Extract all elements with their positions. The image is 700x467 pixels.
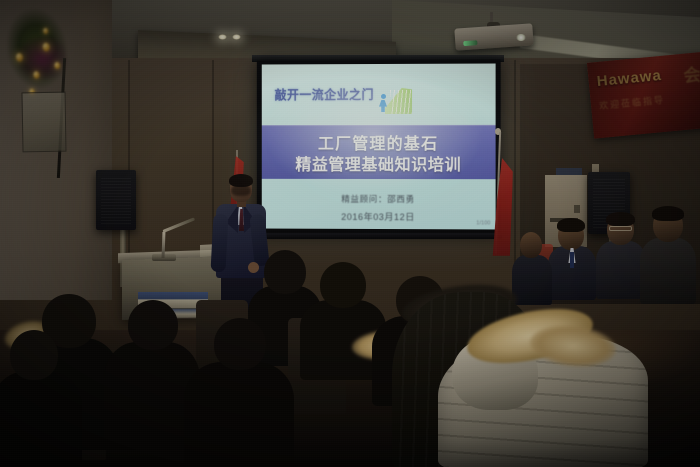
attendee-tie <box>570 252 574 268</box>
slide-title-line2: 精益管理基础知识培训 <box>262 151 496 175</box>
slide-presenter-line: 精益顾问：邵西勇 <box>262 193 496 206</box>
attendee-body <box>0 372 82 467</box>
projector-lens-icon <box>516 34 526 41</box>
red-wall-banner: Hawawa 欢迎莅临指导 会 <box>587 52 700 139</box>
attendee-body <box>596 241 646 299</box>
slide-logo-text: 敲开一流企业之门 <box>275 86 374 104</box>
banner-shading <box>587 52 700 139</box>
presentation-slide: 敲开一流企业之门 工厂管理的基石 精益管理基础知识培训 精益顾问：邵西勇 201… <box>262 64 496 230</box>
attendee-seated-suit <box>512 232 552 302</box>
conference-room-photo: 敲开一流企业之门 工厂管理的基石 精益管理基础知识培训 精益顾问：邵西勇 201… <box>0 0 700 467</box>
screen-bottom-bar <box>254 233 502 239</box>
pa-speaker-left <box>96 170 136 230</box>
slide-logo-mark-icon <box>379 88 412 114</box>
slide-header: 敲开一流企业之门 <box>262 64 496 126</box>
attendee-body <box>512 255 552 305</box>
wall-sign-plate <box>556 168 582 175</box>
glasses-icon <box>609 226 632 231</box>
attendee-silhouette <box>0 330 82 467</box>
attendee-head <box>520 232 542 258</box>
attendee-seated-suit <box>596 214 646 298</box>
presenter-hair <box>229 174 253 187</box>
attendee-head <box>320 262 366 308</box>
ceiling-downlight-icon <box>218 34 227 40</box>
attendee-seated-suit <box>548 220 596 298</box>
attendee-hair <box>606 212 635 226</box>
attendee-silhouette <box>184 318 294 467</box>
logo-stripe-lines <box>390 90 412 114</box>
attendee-seated-suit <box>640 208 696 302</box>
slide-date-line: 2016年03月12日 <box>262 210 496 224</box>
logo-person-icon <box>379 94 387 113</box>
attendee-body <box>184 362 294 467</box>
projection-screen: 敲开一流企业之门 工厂管理的基石 精益管理基础知识培训 精益顾问：邵西勇 201… <box>257 59 501 235</box>
slide-page-number: 1/100 <box>476 220 490 226</box>
attendee-head <box>10 330 58 380</box>
attendee-hair <box>652 206 684 221</box>
attendee-head <box>214 318 266 370</box>
ornament-icon <box>43 27 49 34</box>
attendee-body <box>640 238 696 304</box>
ceiling-downlight-icon <box>232 34 241 40</box>
attendee-hair <box>557 218 585 232</box>
cabinet-latch-icon <box>574 205 580 213</box>
attendee-head <box>128 300 178 350</box>
slide-title-band: 工厂管理的基石 精益管理基础知识培训 <box>262 125 496 179</box>
framed-wall-panel <box>21 92 66 153</box>
presenter-arm-left <box>210 214 228 273</box>
